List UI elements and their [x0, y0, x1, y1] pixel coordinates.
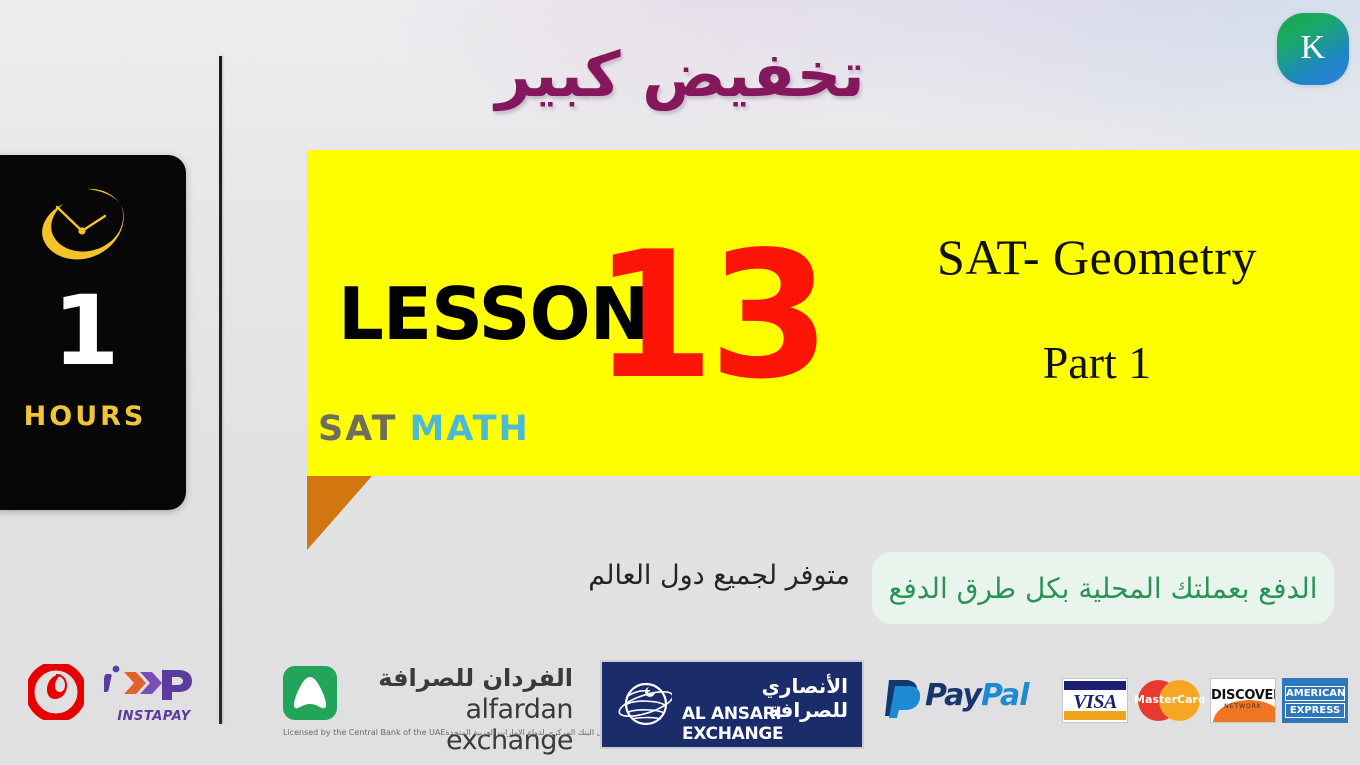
duration-number: 1 [53, 283, 118, 379]
al-ansari-exchange-logo: الأنصاري للصرافة AL ANSARI EXCHANGE [600, 660, 864, 749]
course-title: SAT- Geometry [867, 228, 1327, 286]
paypal-pal: Pal [981, 678, 1029, 713]
discover-card-logo: DISCOVER NETWORK [1210, 678, 1276, 723]
brand-math: MATH [409, 409, 529, 449]
brand-line: SATMATH [318, 412, 530, 447]
instapay-wordmark: INSTAPAY [104, 709, 204, 724]
discover-wordmark: DISCOVER [1211, 688, 1275, 703]
discover-subtext: NETWORK [1211, 703, 1275, 710]
lesson-number: 13 [593, 229, 825, 404]
banner-fold-triangle [307, 476, 372, 550]
brand-sat: SAT [318, 409, 397, 449]
duration-unit: HOURS [24, 401, 147, 432]
alfardan-exchange-logo: الفردان للصرافة alfardan exchange Licens… [283, 664, 573, 748]
visa-top-bar [1064, 681, 1126, 690]
payment-logo-strip: INSTAPAY الفردان للصرافة alfardan exchan… [0, 650, 1360, 765]
paypal-pay: Pay [925, 678, 981, 713]
paypal-logo: PayPal [883, 676, 1028, 718]
alfardan-license-line: Licensed by the Central Bank of the UAE … [283, 728, 573, 737]
visa-wordmark: VISA [1063, 691, 1127, 714]
instapay-icon [104, 660, 204, 704]
visa-card-logo: VISA [1062, 678, 1128, 723]
local-currency-badge: الدفع بعملتك المحلية بكل طرق الدفع [872, 552, 1334, 624]
alfardan-english: alfardan exchange [351, 694, 573, 756]
alfardan-mark-icon [283, 666, 337, 720]
alfardan-license-en: Licensed by the Central Bank of the UAE [283, 728, 445, 737]
lesson-banner: LESSON 13 SAT- Geometry Part 1 SATMATH [307, 150, 1360, 476]
amex-line-1: AMERICAN [1285, 686, 1345, 701]
instapay-logo: INSTAPAY [104, 660, 204, 724]
mastercard-logo: MasterCard [1134, 678, 1204, 723]
alfardan-arabic: الفردان للصرافة [351, 664, 573, 692]
clock-icon [35, 183, 135, 265]
vertical-divider [219, 56, 222, 724]
mastercard-wordmark: MasterCard [1134, 693, 1204, 706]
duration-card: 1 HOURS [0, 155, 186, 510]
globe-icon [616, 676, 672, 732]
amex-card-logo: AMERICAN EXPRESS [1282, 678, 1348, 723]
worldwide-note: متوفر لجميع دول العالم [560, 560, 850, 591]
promo-canvas: K تخفيض كبير 1 HOURS LESSON 13 SAT- Geom… [0, 0, 1360, 765]
al-ansari-english: AL ANSARI EXCHANGE [682, 704, 848, 744]
page-title: تخفيض كبير [0, 38, 1360, 111]
local-currency-text: الدفع بعملتك المحلية بكل طرق الدفع [888, 572, 1317, 605]
paypal-icon [883, 676, 923, 718]
card-brand-logos: VISA MasterCard DISCOVER NETWORK AMERICA… [1062, 678, 1328, 723]
amex-line-2: EXPRESS [1285, 703, 1345, 718]
vodafone-icon [28, 664, 84, 720]
paypal-wordmark: PayPal [925, 678, 1029, 713]
course-part: Part 1 [867, 336, 1327, 389]
